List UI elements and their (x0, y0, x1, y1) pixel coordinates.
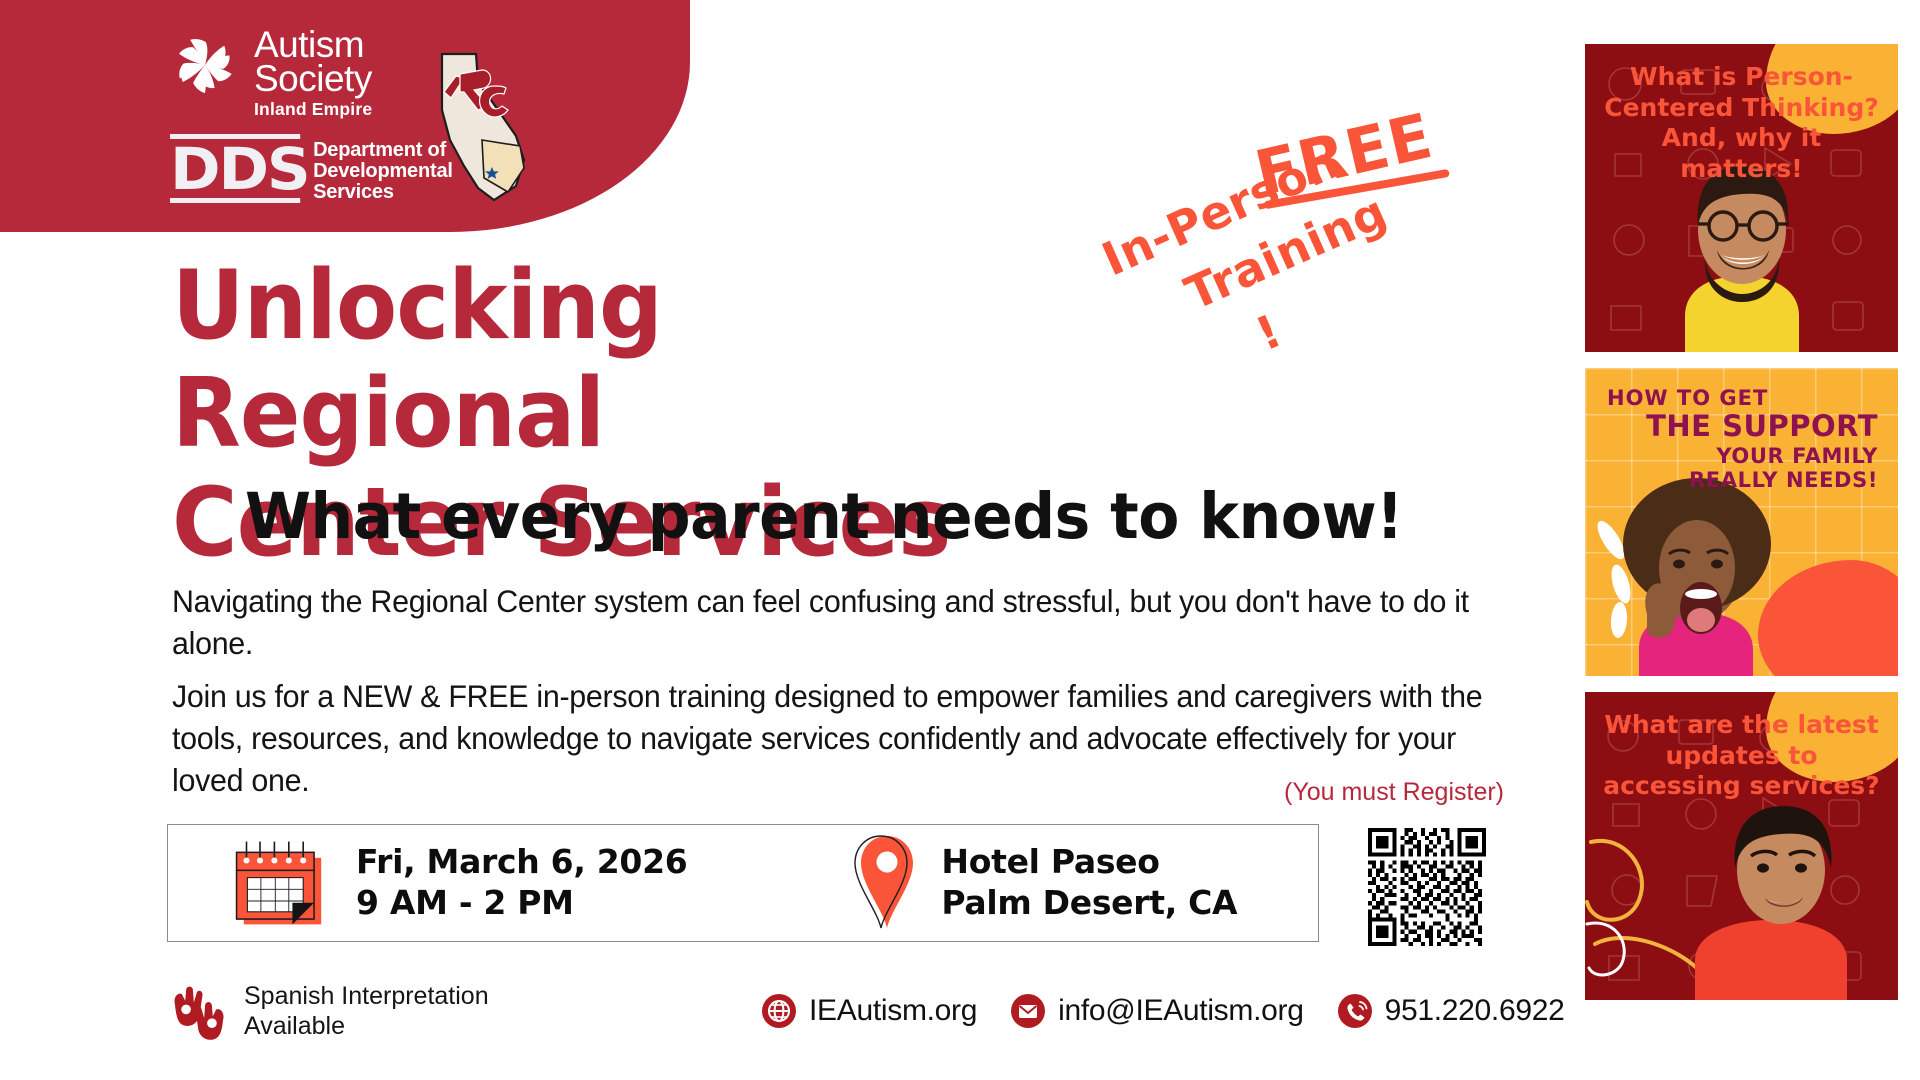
venue-name: Hotel Paseo (941, 842, 1237, 883)
logo-block: Autism Society Inland Empire DDS Departm… (168, 26, 453, 204)
autism-society-logo: Autism Society Inland Empire (168, 26, 453, 117)
logo-line-chapter: Inland Empire (254, 101, 372, 117)
promo-card-latest-updates[interactable]: What are the latest updates to accessing… (1585, 692, 1898, 1000)
event-venue-text: Hotel Paseo Palm Desert, CA (941, 842, 1237, 924)
sign-language-hands-icon (168, 983, 230, 1041)
interpretation-line-2: Available (244, 1012, 489, 1042)
phone-label: 951.220.6922 (1385, 994, 1565, 1028)
contact-email[interactable]: info@IEAutism.org (1011, 994, 1303, 1028)
promo-card-family-support[interactable]: HOW TO GET THE SUPPORT YOUR FAMILY REALL… (1585, 368, 1898, 676)
flyer-root: Autism Society Inland Empire DDS Departm… (0, 0, 1920, 1080)
qr-code-icon[interactable] (1368, 828, 1486, 946)
body-paragraph-1: Navigating the Regional Center system ca… (172, 580, 1504, 664)
event-date-block: Fri, March 6, 2026 9 AM - 2 PM (224, 834, 687, 932)
interpretation-note: Spanish Interpretation Available (168, 982, 489, 1041)
promo-2-line-3: YOUR FAMILY (1601, 444, 1878, 468)
dds-logo: DDS Department of Developmental Services (170, 134, 453, 204)
contact-phone[interactable]: 951.220.6922 (1338, 994, 1565, 1028)
contact-row: IEAutism.org info@IEAutism.org 951.220.6… (762, 994, 1581, 1028)
inland-regional-center-california-icon (420, 48, 530, 208)
email-label: info@IEAutism.org (1058, 994, 1303, 1028)
event-time: 9 AM - 2 PM (356, 883, 687, 924)
promo-card-list: What is Person- Centered Thinking? And, … (1585, 44, 1898, 1000)
promo-2-line-4: REALLY NEEDS! (1601, 468, 1878, 492)
interpretation-text: Spanish Interpretation Available (244, 982, 489, 1041)
promo-3-line-1: What are the (1604, 710, 1788, 739)
calendar-icon (224, 834, 332, 932)
venue-city: Palm Desert, CA (941, 883, 1237, 924)
interpretation-line-1: Spanish Interpretation (244, 982, 489, 1012)
dds-acronym: DDS (170, 134, 309, 196)
promo-1-line-2: Centered Thinking? (1604, 93, 1879, 122)
phone-icon (1338, 994, 1372, 1028)
promo-card-person-centered-thinking[interactable]: What is Person- Centered Thinking? And, … (1585, 44, 1898, 352)
website-label: IEAutism.org (809, 994, 977, 1028)
promo-2-line-2: THE SUPPORT (1601, 410, 1878, 444)
event-date-text: Fri, March 6, 2026 9 AM - 2 PM (356, 842, 687, 924)
register-note: (You must Register) (1284, 778, 1504, 807)
promo-1-line-1: What is Person- (1630, 62, 1853, 91)
event-location-block: Hotel Paseo Palm Desert, CA (853, 832, 1237, 934)
promo-3-line-3: accessing services? (1603, 771, 1879, 800)
promo-1-line-3: And, why it matters! (1662, 123, 1822, 183)
map-pin-icon (853, 832, 917, 934)
globe-icon (762, 994, 796, 1028)
promo-card-3-title: What are the latest updates to accessing… (1585, 692, 1898, 802)
contact-website[interactable]: IEAutism.org (762, 994, 977, 1028)
envelope-icon (1011, 994, 1045, 1028)
promo-2-line-1: HOW TO GET (1601, 386, 1878, 410)
promo-card-2-title: HOW TO GET THE SUPPORT YOUR FAMILY REALL… (1585, 368, 1898, 493)
logo-line-autism: Autism (254, 28, 372, 62)
logo-line-society: Society (254, 62, 372, 96)
page-subtitle: What every parent needs to know! (245, 480, 1403, 553)
title-line-1: Unlocking Regional (172, 252, 1121, 469)
event-date: Fri, March 6, 2026 (356, 842, 687, 883)
autism-society-spiral-icon (168, 28, 242, 102)
autism-society-wordmark: Autism Society Inland Empire (254, 26, 372, 117)
event-details-box: Fri, March 6, 2026 9 AM - 2 PM Hotel Pas… (167, 824, 1319, 942)
promo-card-1-title: What is Person- Centered Thinking? And, … (1585, 44, 1898, 184)
